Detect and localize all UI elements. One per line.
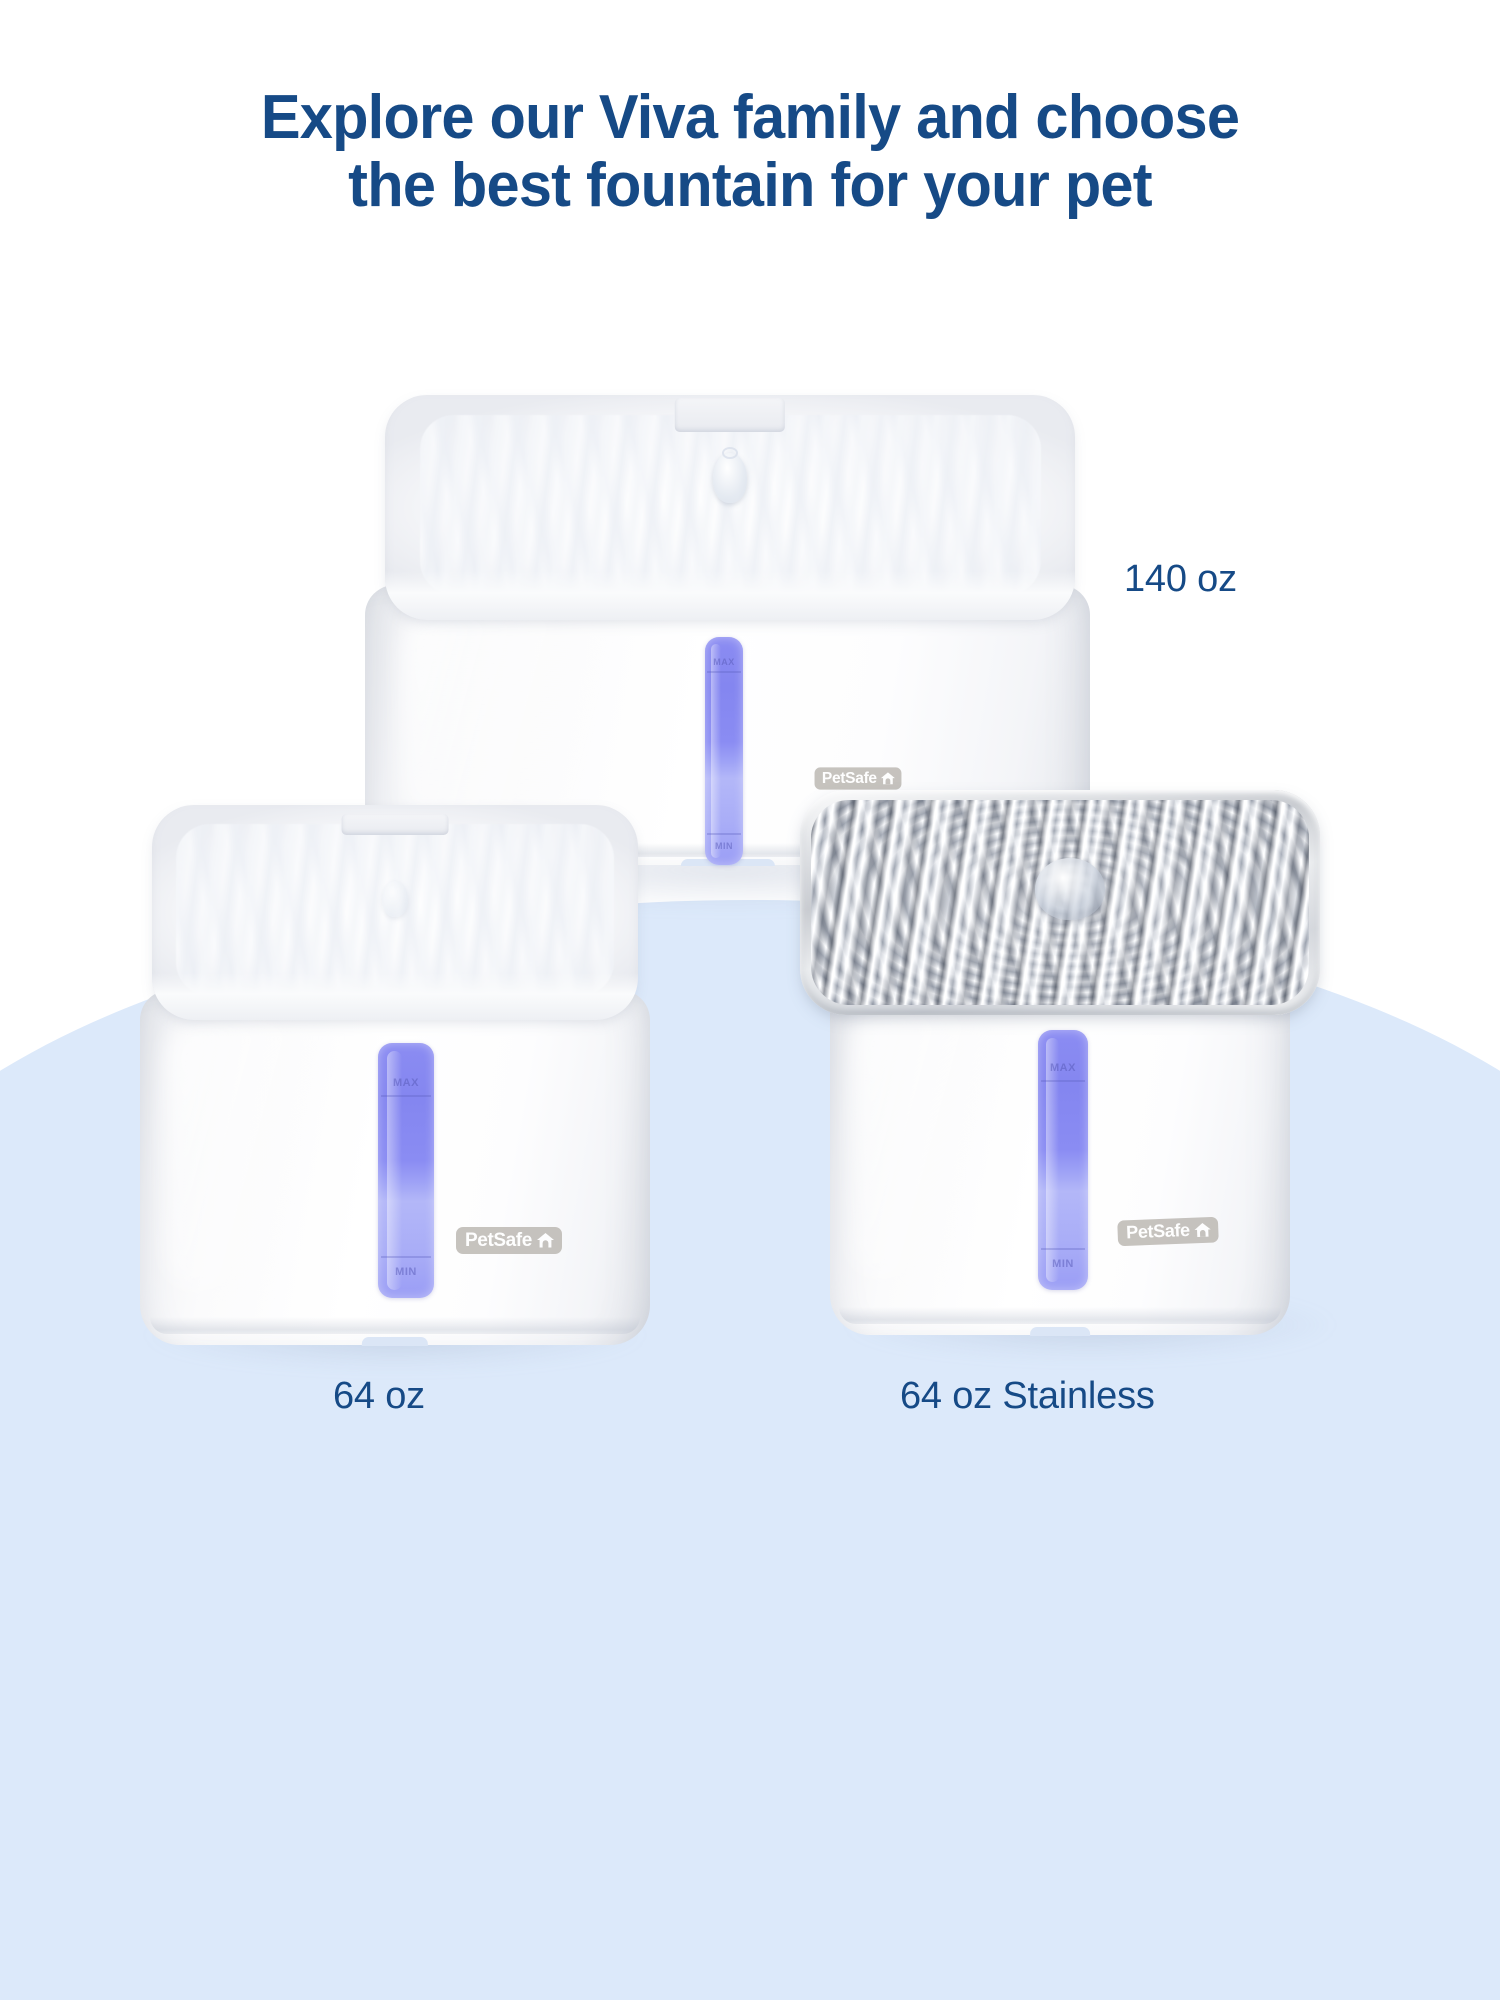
water-bubbler bbox=[1035, 858, 1105, 920]
base-notch bbox=[362, 1337, 428, 1346]
capacity-label-64oz-stainless: 64 oz Stainless bbox=[900, 1375, 1155, 1418]
base-groove bbox=[150, 1317, 640, 1335]
lid-water-surface bbox=[420, 415, 1041, 595]
indicator-max-label: MAX bbox=[705, 657, 743, 667]
base-groove bbox=[839, 1307, 1281, 1325]
water-bubbler bbox=[382, 881, 408, 917]
capacity-label-140oz: 140 oz bbox=[1124, 558, 1237, 601]
product-viva-64oz-stainless[interactable]: MAX MIN PetSafe bbox=[800, 790, 1320, 1335]
indicator-min-label: MIN bbox=[1038, 1258, 1088, 1270]
petsafe-logo-64oz: PetSafe bbox=[456, 1227, 562, 1254]
petsafe-wordmark: PetSafe bbox=[465, 1231, 532, 1250]
indicator-min-line bbox=[707, 833, 740, 835]
indicator-min-label: MIN bbox=[705, 841, 743, 851]
water-level-indicator-64oz: MAX MIN bbox=[378, 1043, 434, 1298]
water-bubbler bbox=[713, 453, 747, 503]
fountain-lid-64oz bbox=[152, 805, 638, 1020]
lid-rim bbox=[152, 973, 638, 1020]
body-highlight bbox=[853, 1008, 1009, 1285]
indicator-gloss bbox=[711, 644, 721, 858]
capacity-label-64oz: 64 oz bbox=[333, 1375, 425, 1418]
house-icon bbox=[536, 1232, 555, 1249]
indicator-min-line bbox=[1041, 1248, 1085, 1250]
indicator-max-line bbox=[381, 1095, 430, 1097]
indicator-max-label: MAX bbox=[378, 1077, 434, 1089]
page-title-line-1: Explore our Viva family and choose bbox=[30, 84, 1470, 152]
indicator-gloss bbox=[1046, 1038, 1059, 1282]
bubbler-ripple-ring bbox=[722, 447, 738, 459]
house-icon bbox=[880, 772, 896, 786]
indicator-max-label: MAX bbox=[1038, 1062, 1088, 1074]
base-notch bbox=[1030, 1327, 1090, 1336]
indicator-min-line bbox=[381, 1256, 430, 1258]
fountain-lid-stainless bbox=[800, 790, 1320, 1015]
body-highlight bbox=[401, 607, 648, 825]
page-title-line-2: the best fountain for your pet bbox=[30, 152, 1470, 220]
indicator-max-line bbox=[707, 671, 740, 673]
petsafe-wordmark: PetSafe bbox=[822, 771, 877, 787]
fountain-lid-140oz bbox=[385, 395, 1075, 620]
lid-tab[interactable] bbox=[342, 814, 449, 836]
product-viva-64oz[interactable]: MAX MIN PetSafe bbox=[140, 805, 650, 1345]
petsafe-wordmark: PetSafe bbox=[1126, 1222, 1190, 1242]
page-title: Explore our Viva family and choose the b… bbox=[30, 84, 1470, 220]
water-level-indicator-140oz: MAX MIN bbox=[705, 637, 743, 865]
petsafe-logo-140oz: PetSafe bbox=[815, 767, 902, 789]
house-icon bbox=[1193, 1222, 1212, 1239]
body-highlight bbox=[166, 1018, 339, 1295]
lid-tab[interactable] bbox=[675, 398, 785, 432]
indicator-min-label: MIN bbox=[378, 1266, 434, 1278]
indicator-max-line bbox=[1041, 1080, 1085, 1082]
lid-rim bbox=[385, 571, 1075, 621]
petsafe-logo-stainless: PetSafe bbox=[1117, 1217, 1219, 1246]
water-level-indicator-stainless: MAX MIN bbox=[1038, 1030, 1088, 1290]
